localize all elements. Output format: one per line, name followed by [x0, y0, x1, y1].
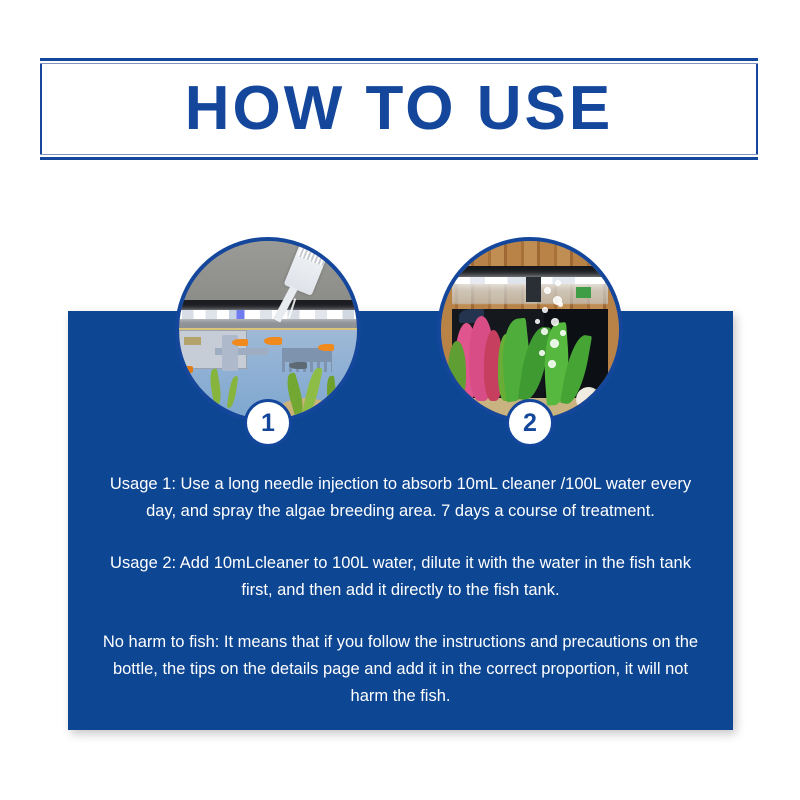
header-rule-top — [40, 58, 758, 61]
dropper-bottle — [284, 242, 329, 296]
equipment-box — [576, 287, 590, 298]
instructions-panel: Usage 1: Use a long needle injection to … — [68, 311, 733, 730]
air-bubble — [553, 296, 562, 305]
header-hairline-bottom — [40, 154, 758, 155]
instruction-paragraph-usage-1: Usage 1: Use a long needle injection to … — [96, 471, 705, 525]
air-bubble — [555, 280, 561, 286]
tank-hood — [452, 266, 609, 278]
page-title: HOW TO USE — [40, 78, 758, 140]
header-rule-bottom — [40, 157, 758, 160]
page-header: HOW TO USE — [40, 58, 758, 160]
header-hairline-top — [40, 63, 758, 64]
bottle-cap — [297, 237, 331, 267]
how-to-use-page: HOW TO USE Usage 1: Use a long needle in… — [0, 0, 800, 800]
led-light-bar — [455, 277, 605, 284]
internal-filter — [526, 277, 540, 302]
instruction-paragraph-usage-2: Usage 2: Add 10mLcleaner to 100L water, … — [96, 550, 705, 604]
instruction-paragraph-no-harm: No harm to fish: It means that if you fo… — [96, 629, 705, 710]
wall-background — [179, 241, 357, 312]
air-bubble — [544, 287, 551, 294]
instructions-text-block: Usage 1: Use a long needle injection to … — [96, 471, 705, 710]
air-bubble — [558, 302, 563, 307]
